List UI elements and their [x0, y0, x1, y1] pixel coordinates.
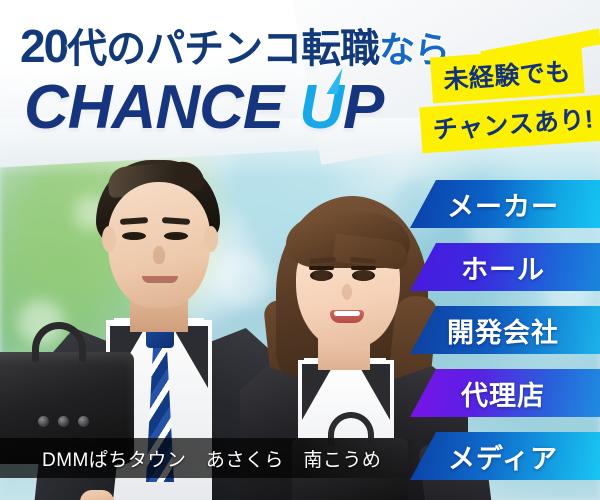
category-button-media[interactable]: メディア	[410, 432, 600, 480]
badge-line-1: 未経験でも	[430, 47, 584, 103]
category-label: メーカー	[410, 185, 600, 224]
category-button-agency[interactable]: 代理店	[410, 369, 600, 417]
credit-caption-text: DMMぱちタウン あさくら 南こうめ	[0, 445, 381, 472]
woman-lapel-right	[358, 364, 390, 420]
man-lapel-right	[172, 326, 208, 388]
man-mouth	[142, 276, 178, 283]
woman-eye-right	[352, 270, 375, 281]
man-face	[108, 182, 210, 308]
category-button-developer[interactable]: 開発会社	[410, 306, 600, 354]
woman-eye-left	[310, 270, 333, 281]
category-label: メディア	[410, 437, 600, 476]
woman-nose	[342, 284, 352, 300]
category-button-hall[interactable]: ホール	[410, 243, 600, 291]
status-badge: 未経験でも チャンスあり!	[416, 46, 600, 154]
man-eye-right	[164, 232, 188, 240]
woman-bangs	[286, 212, 410, 268]
page-title: 20代のパチンコ転職なら	[20, 16, 449, 74]
woman-lapel-left	[302, 364, 334, 420]
category-label: ホール	[410, 248, 600, 287]
man-hand	[80, 490, 114, 500]
logo-letter-u: U	[299, 72, 343, 143]
headline-number: 20	[20, 20, 67, 72]
man-nose	[153, 246, 165, 264]
category-button-maker[interactable]: メーカー	[410, 180, 600, 228]
headline-main: 代のパチンコ転職	[67, 27, 379, 71]
recruitment-banner: 20代のパチンコ転職なら CHANCEUP	[0, 0, 600, 500]
man-ear-left	[102, 226, 116, 252]
chance-up-logo: CHANCEUP	[24, 72, 383, 143]
category-label: 代理店	[410, 374, 600, 413]
category-label: 開発会社	[410, 311, 600, 350]
logo-letter-p: P	[343, 73, 383, 142]
briefcase-studs	[38, 416, 89, 427]
man-ear-right	[204, 226, 218, 252]
credit-caption: DMMぱちタウン あさくら 南こうめ	[0, 438, 420, 478]
logo-word-chance: CHANCE	[24, 73, 283, 142]
man-eye-left	[122, 232, 146, 240]
woman-mouth	[330, 310, 364, 323]
